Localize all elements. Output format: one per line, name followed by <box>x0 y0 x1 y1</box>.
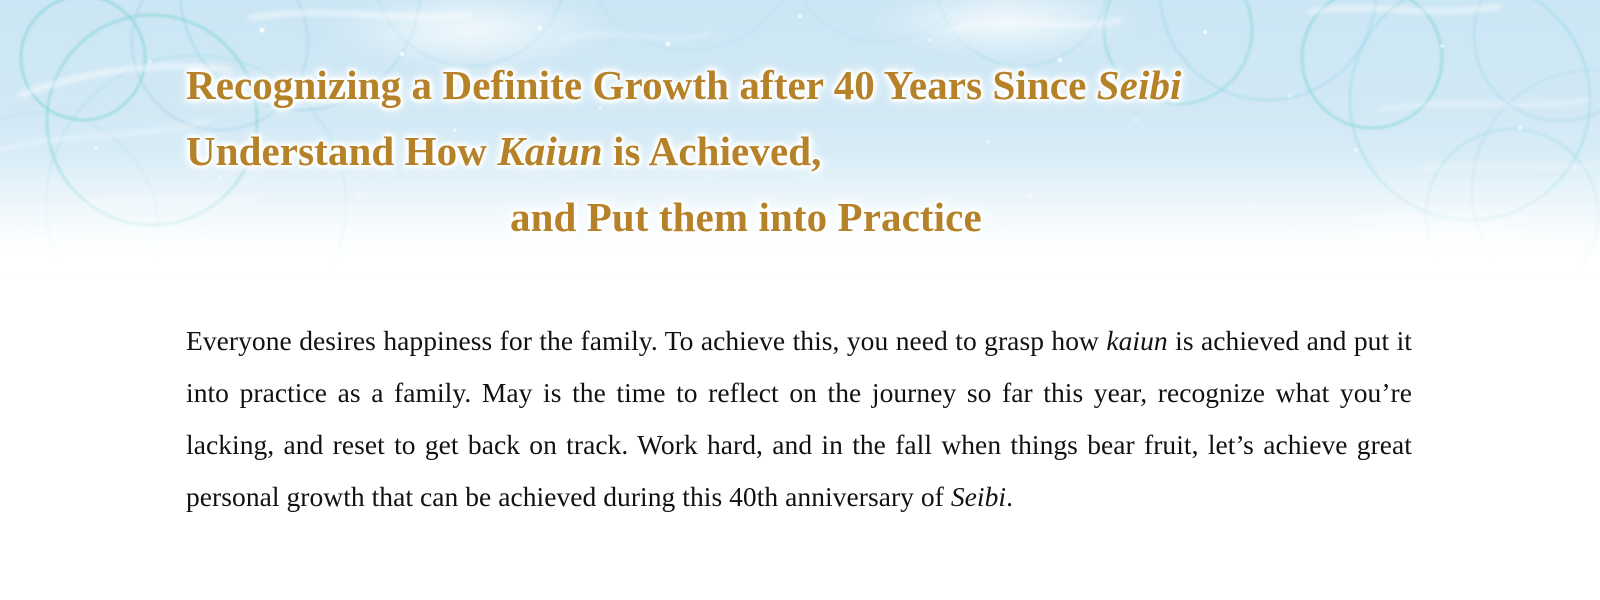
headline-line-1: Recognizing a Definite Growth after 40 Y… <box>186 52 1426 118</box>
headline-line-1-emphasis: Seibi <box>1097 62 1182 108</box>
body-emphasis-kaiun: kaiun <box>1106 325 1167 356</box>
page-title: Recognizing a Definite Growth after 40 Y… <box>186 52 1426 250</box>
headline-line-3-text: and Put them into Practice <box>510 194 982 240</box>
headline-line-1-text: Recognizing a Definite Growth after 40 Y… <box>186 62 1097 108</box>
headline-line-2-text-a: Understand How <box>186 128 497 174</box>
headline-line-3: and Put them into Practice <box>186 184 1426 250</box>
article-content: Recognizing a Definite Growth after 40 Y… <box>0 0 1600 600</box>
headline-line-2-text-b: is Achieved, <box>603 128 822 174</box>
body-paragraph: Everyone desires happiness for the famil… <box>186 315 1412 523</box>
headline-line-2: Understand How Kaiun is Achieved, <box>186 118 1426 184</box>
body-segment-3: . <box>1006 481 1013 512</box>
body-segment-1: Everyone desires happiness for the famil… <box>186 325 1106 356</box>
article-header-page: Recognizing a Definite Growth after 40 Y… <box>0 0 1600 600</box>
body-emphasis-seibi: Seibi <box>951 481 1006 512</box>
headline-line-2-emphasis: Kaiun <box>497 128 602 174</box>
